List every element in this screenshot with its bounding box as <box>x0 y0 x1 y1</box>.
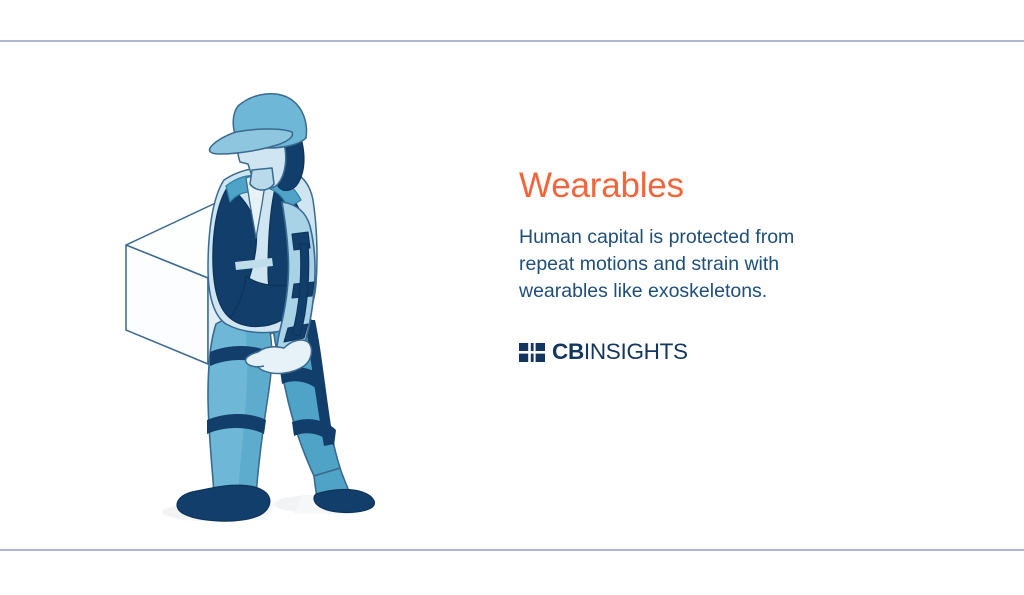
shoe-far <box>314 490 374 513</box>
cb-insights-logo: CBINSIGHTS <box>519 340 688 364</box>
body-line-2: repeat motions and strain with <box>519 251 829 278</box>
logo-insights-text: INSIGHTS <box>584 339 688 364</box>
slide-canvas: Wearables Human capital is protected fro… <box>0 0 1024 595</box>
body-line-1: Human capital is protected from <box>519 224 829 251</box>
top-divider-rule <box>0 40 1024 42</box>
cb-insights-wordmark: CBINSIGHTS <box>552 341 688 363</box>
shoe-near <box>177 485 270 521</box>
bottom-divider-rule <box>0 549 1024 551</box>
text-column: Wearables Human capital is protected fro… <box>519 166 859 305</box>
logo-cb-text: CB <box>552 339 584 364</box>
warehouse-worker-exoskeleton-illustration <box>96 52 396 532</box>
page-title: Wearables <box>519 166 859 206</box>
body-paragraph: Human capital is protected from repeat m… <box>519 224 829 305</box>
leg-near <box>208 317 272 495</box>
body-line-3: wearables like exoskeletons. <box>519 278 829 305</box>
cb-insights-window-mark <box>519 343 545 362</box>
